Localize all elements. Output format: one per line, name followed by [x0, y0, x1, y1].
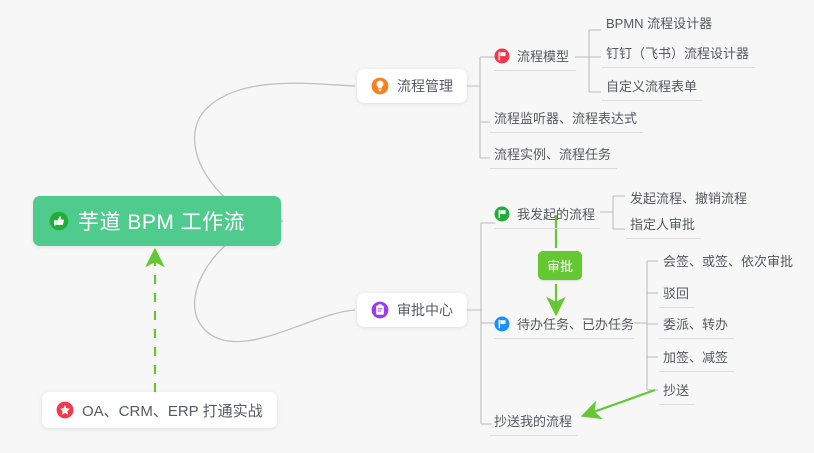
arrow-cc: [585, 390, 655, 415]
leaf-label: 钉钉（飞书）流程设计器: [606, 46, 749, 61]
node-label: 待办任务、已办任务: [517, 314, 634, 333]
leaf-label: 流程监听器、流程表达式: [494, 111, 637, 126]
leaf-label: 加签、减签: [663, 350, 728, 365]
leaf-label: 自定义流程表单: [606, 79, 697, 94]
node-todo-done-tasks[interactable]: 待办任务、已办任务: [494, 312, 634, 339]
flag-icon: [494, 48, 510, 64]
leaf-add-remove-sign[interactable]: 加签、减签: [659, 345, 734, 372]
node-process-model[interactable]: 流程模型: [494, 44, 576, 71]
node-label: 流程管理: [397, 76, 453, 96]
annotation-approval-badge: 审批: [538, 251, 582, 280]
annotation-label: 审批: [547, 259, 573, 274]
node-label: 我发起的流程: [517, 204, 595, 223]
leaf-assignee-approval[interactable]: 指定人审批: [626, 212, 701, 239]
star-icon: [56, 401, 74, 419]
leaf-countersign[interactable]: 会签、或签、依次审批: [659, 249, 799, 276]
flag-icon: [494, 206, 510, 222]
leaf-cc[interactable]: 抄送: [659, 378, 695, 405]
leaf-label: 抄送我的流程: [494, 414, 572, 429]
leaf-process-listener[interactable]: 流程监听器、流程表达式: [490, 106, 643, 133]
leaf-label: 流程实例、流程任务: [494, 147, 611, 162]
thumbs-up-icon: [49, 211, 69, 231]
lightbulb-icon: [371, 77, 389, 95]
node-approval-center[interactable]: 审批中心: [357, 293, 467, 327]
leaf-label: 会签、或签、依次审批: [663, 254, 793, 269]
flag-icon: [494, 316, 510, 332]
leaf-custom-form[interactable]: 自定义流程表单: [602, 74, 703, 101]
leaf-cc-to-me[interactable]: 抄送我的流程: [490, 409, 578, 436]
leaf-label: BPMN 流程设计器: [606, 16, 712, 31]
root-label: 芋道 BPM 工作流: [78, 206, 245, 236]
clipboard-icon: [371, 301, 389, 319]
leaf-bpmn-designer[interactable]: BPMN 流程设计器: [602, 11, 718, 38]
node-label: OA、CRM、ERP 打通实战: [82, 400, 263, 421]
leaf-label: 指定人审批: [630, 217, 695, 232]
leaf-start-cancel-process[interactable]: 发起流程、撤销流程: [626, 186, 753, 213]
mindmap-canvas: 芋道 BPM 工作流 流程管理 流程模型 BPMN 流程设计器 钉钉（飞书: [0, 0, 814, 453]
leaf-process-instance[interactable]: 流程实例、流程任务: [490, 142, 617, 169]
node-process-management[interactable]: 流程管理: [357, 69, 467, 103]
leaf-label: 抄送: [663, 383, 689, 398]
leaf-label: 驳回: [663, 286, 689, 301]
leaf-dingtalk-designer[interactable]: 钉钉（飞书）流程设计器: [602, 41, 755, 68]
leaf-label: 委派、转办: [663, 317, 728, 332]
node-label: 流程模型: [517, 46, 569, 65]
leaf-delegate-transfer[interactable]: 委派、转办: [659, 312, 734, 339]
node-my-initiated[interactable]: 我发起的流程: [494, 202, 600, 229]
node-label: 审批中心: [397, 300, 453, 320]
leaf-reject[interactable]: 驳回: [659, 281, 695, 308]
leaf-label: 发起流程、撤销流程: [630, 191, 747, 206]
node-oa-crm-erp[interactable]: OA、CRM、ERP 打通实战: [42, 392, 277, 428]
root-node[interactable]: 芋道 BPM 工作流: [33, 196, 281, 246]
